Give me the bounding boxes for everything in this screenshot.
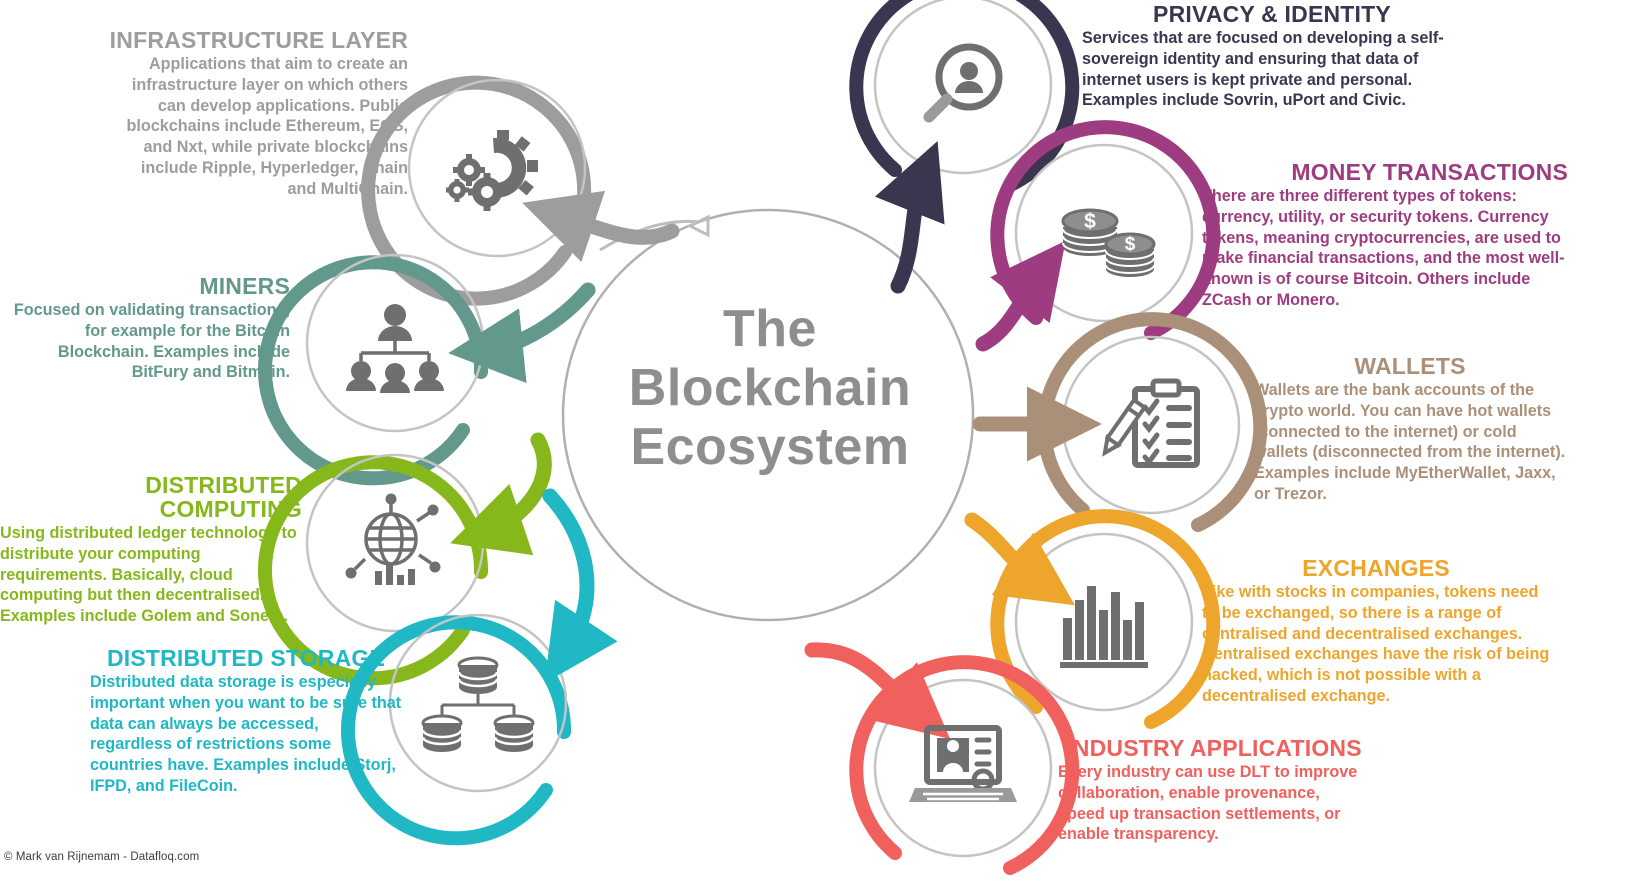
panel-title-wallets: WALLETS	[1254, 354, 1566, 378]
panel-distributed-storage: DISTRIBUTED STORAGE Distributed data sto…	[90, 646, 402, 797]
globe-network-icon	[346, 494, 441, 586]
center-title-line-2: Blockchain	[560, 359, 980, 418]
panel-body-wallets: Wallets are the bank accounts of the cry…	[1254, 380, 1566, 504]
database-tree-icon	[423, 658, 533, 752]
panel-body-infrastructure-layer: Applications that aim to create an infra…	[108, 54, 408, 199]
arrow-to-distributed-computing	[490, 440, 544, 530]
people-network-icon	[346, 304, 444, 393]
panel-body-distributed-storage: Distributed data storage is especially i…	[90, 672, 402, 796]
panel-money-transactions: MONEY TRANSACTIONS There are three diffe…	[1202, 160, 1568, 311]
arrow-to-distributed-storage	[550, 496, 587, 648]
infographic-canvas: $ $	[0, 0, 1628, 896]
panel-body-money-transactions: There are three different types of token…	[1202, 186, 1568, 310]
svg-text:$: $	[1125, 234, 1136, 255]
center-title-line-3: Ecosystem	[560, 418, 980, 477]
panel-title-miners: MINERS	[8, 274, 290, 298]
bar-chart-icon	[1060, 586, 1148, 668]
credit-line: © Mark van Rijnemam - Datafloq.com	[4, 851, 199, 863]
panel-privacy-identity: PRIVACY & IDENTITY Services that are foc…	[1082, 2, 1462, 111]
panel-body-miners: Focused on validating transactions, for …	[8, 300, 290, 383]
panel-distributed-computing: DISTRIBUTED COMPUTING Using distributed …	[0, 473, 302, 627]
svg-text:$: $	[1084, 210, 1096, 233]
panel-exchanges: EXCHANGES Like with stocks in companies,…	[1202, 556, 1550, 707]
panel-title-distributed-storage: DISTRIBUTED STORAGE	[90, 646, 402, 670]
center-title-line-1: The	[560, 300, 980, 359]
panel-miners: MINERS Focused on validating transaction…	[8, 274, 290, 383]
arrow-to-privacy-identity	[898, 180, 922, 286]
panel-title-privacy-identity: PRIVACY & IDENTITY	[1082, 2, 1462, 26]
identity-search-icon	[929, 47, 999, 117]
panel-body-distributed-computing: Using distributed ledger technology to d…	[0, 523, 302, 627]
panel-title-infrastructure-layer: INFRASTRUCTURE LAYER	[108, 28, 408, 52]
panel-industry-applications: INDUSTRY APPLICATIONS Every industry can…	[1058, 736, 1370, 845]
panel-wallets: WALLETS Wallets are the bank accounts of…	[1254, 354, 1566, 505]
panel-body-privacy-identity: Services that are focused on developing …	[1082, 28, 1462, 111]
panel-body-exchanges: Like with stocks in companies, tokens ne…	[1202, 582, 1550, 706]
node-ring-miners	[265, 255, 483, 478]
gears-icon	[446, 130, 538, 211]
panel-title-distributed-computing: DISTRIBUTED COMPUTING	[0, 473, 302, 521]
panel-body-industry-applications: Every industry can use DLT to improve co…	[1058, 762, 1370, 845]
panel-title-money-transactions: MONEY TRANSACTIONS	[1202, 160, 1568, 184]
panel-infrastructure-layer: INFRASTRUCTURE LAYER Applications that a…	[108, 28, 408, 199]
panel-title-industry-applications: INDUSTRY APPLICATIONS	[1058, 736, 1370, 760]
center-title: The Blockchain Ecosystem	[560, 300, 980, 476]
panel-title-exchanges: EXCHANGES	[1202, 556, 1550, 580]
laptop-user-icon	[909, 728, 1017, 802]
coin-stacks-icon: $ $	[1063, 210, 1154, 277]
clipboard-pen-icon	[1100, 381, 1197, 465]
